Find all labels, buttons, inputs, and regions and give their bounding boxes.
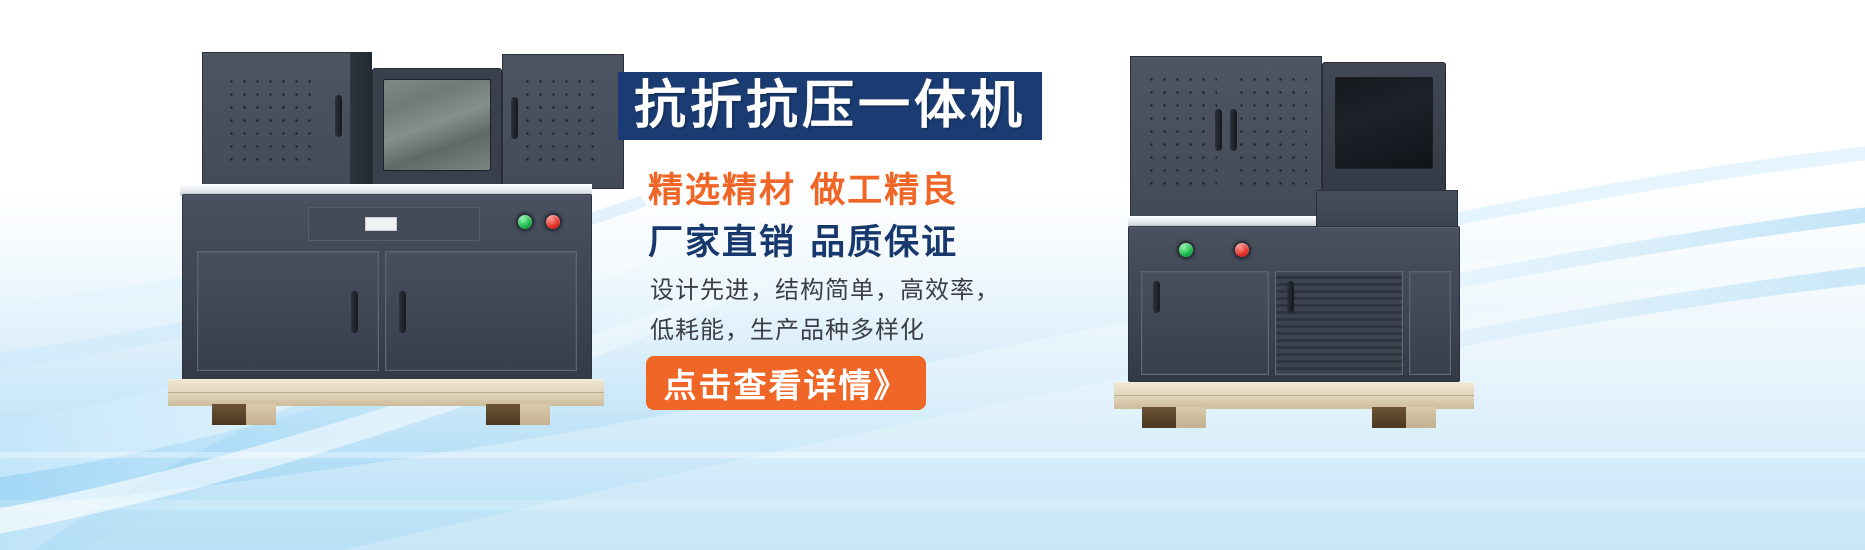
product-image-right — [1110, 40, 1530, 430]
pallet-leg — [1406, 407, 1436, 428]
left-machine-cabinet-side-shadow — [350, 52, 372, 187]
right-machine-upper-cabinet — [1130, 56, 1322, 220]
right-machine-lower-door-right — [1275, 271, 1403, 375]
perforation-pattern-icon — [521, 75, 601, 167]
left-machine-red-indicator[interactable] — [544, 213, 562, 231]
pallet-leg — [520, 404, 550, 425]
description-line-2: 低耗能，生产品种多样化 — [650, 310, 925, 345]
promo-copy-block: 抗折抗压一体机 精选精材 做工精良 厂家直销 品质保证 设计先进，结构简单，高效… — [618, 72, 1078, 432]
right-machine-door-handle-right — [1287, 281, 1294, 313]
left-machine-upper-cabinet-right — [502, 54, 624, 189]
right-machine-pallet — [1114, 382, 1474, 430]
pallet-board — [1114, 382, 1474, 409]
right-machine-screen — [1335, 77, 1433, 169]
left-machine-pallet — [168, 379, 604, 427]
right-machine-red-indicator[interactable] — [1233, 241, 1251, 259]
product-promo-banner: 抗折抗压一体机 精选精材 做工精良 厂家直销 品质保证 设计先进，结构简单，高效… — [0, 0, 1865, 550]
pallet-notch — [1142, 407, 1176, 428]
view-details-button-label: 点击查看详情》 — [664, 359, 909, 407]
perforation-pattern-icon — [1235, 73, 1307, 193]
left-machine-upper-cabinet-left — [202, 52, 352, 189]
left-machine-screen — [383, 79, 491, 171]
product-image-left — [150, 42, 600, 427]
subline-orange: 精选精材 做工精良 — [648, 162, 958, 213]
perforation-pattern-icon — [225, 75, 317, 167]
right-machine-monitor — [1322, 62, 1446, 192]
right-cabinet-handle-left — [1215, 109, 1222, 151]
pallet-notch — [486, 404, 520, 425]
right-machine-lower-door-left — [1141, 271, 1269, 375]
right-machine-base-cabinet — [1128, 226, 1460, 382]
left-cabinet-handle-b — [511, 97, 518, 139]
pallet-notch — [212, 404, 246, 425]
headline-text: 抗折抗压一体机 — [634, 80, 1026, 132]
pallet-notch — [1372, 407, 1406, 428]
left-machine-drawer-label — [365, 217, 397, 231]
description-line-1: 设计先进，结构简单，高效率， — [650, 270, 1000, 305]
left-cabinet-handle-a — [335, 95, 342, 137]
left-machine-door-handle-left — [351, 291, 358, 333]
right-machine-green-indicator[interactable] — [1177, 241, 1195, 259]
left-machine-monitor — [372, 68, 502, 188]
left-machine-door-handle-right — [399, 291, 406, 333]
left-machine-base-cabinet — [182, 194, 592, 381]
right-cabinet-handle-right — [1230, 109, 1237, 151]
left-machine-green-indicator[interactable] — [516, 213, 534, 231]
headline-banner: 抗折抗压一体机 — [618, 72, 1042, 140]
view-details-button[interactable]: 点击查看详情》 — [646, 356, 926, 410]
perforation-pattern-icon — [1145, 73, 1217, 193]
right-machine-door-handle-left — [1153, 281, 1160, 313]
pallet-board — [168, 379, 604, 406]
pallet-leg — [246, 404, 276, 425]
pallet-leg — [1176, 407, 1206, 428]
left-machine-lower-door-right — [385, 251, 577, 371]
subline-blue: 厂家直销 品质保证 — [648, 214, 958, 265]
right-machine-side-panel — [1409, 271, 1451, 375]
left-machine-control-drawer — [308, 207, 480, 241]
